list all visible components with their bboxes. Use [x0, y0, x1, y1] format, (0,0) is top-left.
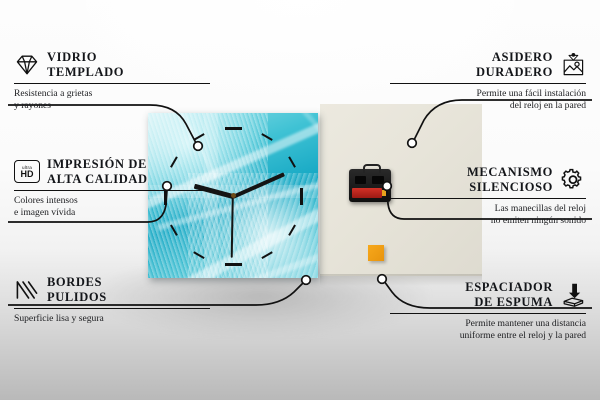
feature-divider — [390, 313, 586, 314]
feature-title-line2: DURADERO — [476, 65, 553, 80]
feature-desc-line2: e imagen vívida — [14, 207, 210, 219]
feature-divider — [390, 83, 586, 84]
hanging-picture-icon — [560, 53, 586, 77]
feature-title-line1: ESPACIADOR — [465, 280, 553, 295]
feature-title-line1: BORDES — [47, 275, 107, 290]
ultra-hd-badge-icon: ultra HD — [14, 160, 40, 183]
feature-divider — [14, 190, 210, 191]
feature-title-line1: ASIDERO — [476, 50, 553, 65]
feature-header: ultra HD IMPRESIÓN DE ALTA CALIDAD — [14, 157, 210, 186]
feature-divider — [390, 198, 586, 199]
clock-center-cap — [231, 193, 236, 198]
gear-icon — [560, 168, 586, 192]
feature-divider — [14, 83, 210, 84]
feature-desc-line1: Superficie lisa y segura — [14, 313, 210, 325]
feature-desc-line1: Permite una fácil instalación — [390, 88, 586, 100]
feature-desc-line2: y rayones — [14, 100, 210, 112]
feature-desc-line2: no emiten ningún sonido — [390, 215, 586, 227]
feature-title: MECANISMO SILENCIOSO — [467, 165, 553, 194]
feature-title-line2: ALTA CALIDAD — [47, 172, 148, 187]
feature-title: BORDES PULIDOS — [47, 275, 107, 304]
clock-tick — [300, 188, 303, 205]
feature-header: VIDRIO TEMPLADO — [14, 50, 210, 79]
mechanism-slot — [355, 176, 366, 184]
mechanism-slot — [372, 176, 384, 184]
clock-mechanism — [349, 169, 391, 202]
feature-title-line2: TEMPLADO — [47, 65, 124, 80]
feature-desc-line1: Resistencia a grietas — [14, 88, 210, 100]
feature-asidero-duradero: ASIDERO DURADERO Permite una fácil insta… — [390, 50, 586, 112]
feature-title-line2: PULIDOS — [47, 290, 107, 305]
infographic-canvas: VIDRIO TEMPLADO Resistencia a grietas y … — [0, 0, 600, 400]
diagonal-lines-icon — [14, 278, 40, 302]
feature-description: Permite una fácil instalación del reloj … — [390, 88, 586, 111]
feature-desc-line1: Colores intensos — [14, 195, 210, 207]
feature-description: Colores intensos e imagen vívida — [14, 195, 210, 218]
feature-header: MECANISMO SILENCIOSO — [390, 165, 586, 194]
feature-desc-line1: Permite mantener una distancia — [390, 318, 586, 330]
feature-desc-line2: del reloj en la pared — [390, 100, 586, 112]
mechanism-hanger — [363, 164, 381, 173]
feature-title-line2: DE ESPUMA — [465, 295, 553, 310]
feature-divider — [14, 308, 210, 309]
feature-title: ESPACIADOR DE ESPUMA — [465, 280, 553, 309]
feature-impresion-alta-calidad: ultra HD IMPRESIÓN DE ALTA CALIDAD Color… — [14, 157, 210, 219]
feature-title-line1: VIDRIO — [47, 50, 124, 65]
feature-description: Las manecillas del reloj no emiten ningú… — [390, 203, 586, 226]
foam-spacer — [368, 245, 384, 261]
feature-title: ASIDERO DURADERO — [476, 50, 553, 79]
feature-header: BORDES PULIDOS — [14, 275, 210, 304]
feature-title-line1: IMPRESIÓN DE — [47, 157, 148, 172]
diamond-icon — [14, 53, 40, 77]
clock-tick — [225, 263, 242, 266]
feature-description: Resistencia a grietas y rayones — [14, 88, 210, 111]
feature-desc-line2: uniforme entre el reloj y la pared — [390, 330, 586, 342]
feature-bordes-pulidos: BORDES PULIDOS Superficie lisa y segura — [14, 275, 210, 325]
clock-tick — [225, 127, 242, 130]
feature-desc-line1: Las manecillas del reloj — [390, 203, 586, 215]
hd-badge-hd-label: HD — [21, 170, 34, 179]
feature-description: Superficie lisa y segura — [14, 313, 210, 325]
feature-title-line1: MECANISMO — [467, 165, 553, 180]
arrow-down-onto-layers-icon — [560, 283, 586, 307]
feature-title: VIDRIO TEMPLADO — [47, 50, 124, 79]
battery — [352, 188, 382, 198]
feature-description: Permite mantener una distancia uniforme … — [390, 318, 586, 341]
feature-title: IMPRESIÓN DE ALTA CALIDAD — [47, 157, 148, 186]
clock-tick — [288, 156, 296, 167]
feature-vidrio-templado: VIDRIO TEMPLADO Resistencia a grietas y … — [14, 50, 210, 112]
feature-header: ESPACIADOR DE ESPUMA — [390, 280, 586, 309]
feature-header: ASIDERO DURADERO — [390, 50, 586, 79]
feature-espaciador-de-espuma: ESPACIADOR DE ESPUMA Permite mantener un… — [390, 280, 586, 342]
feature-mecanismo-silencioso: MECANISMO SILENCIOSO Las manecillas del … — [390, 165, 586, 227]
feature-title-line2: SILENCIOSO — [467, 180, 553, 195]
